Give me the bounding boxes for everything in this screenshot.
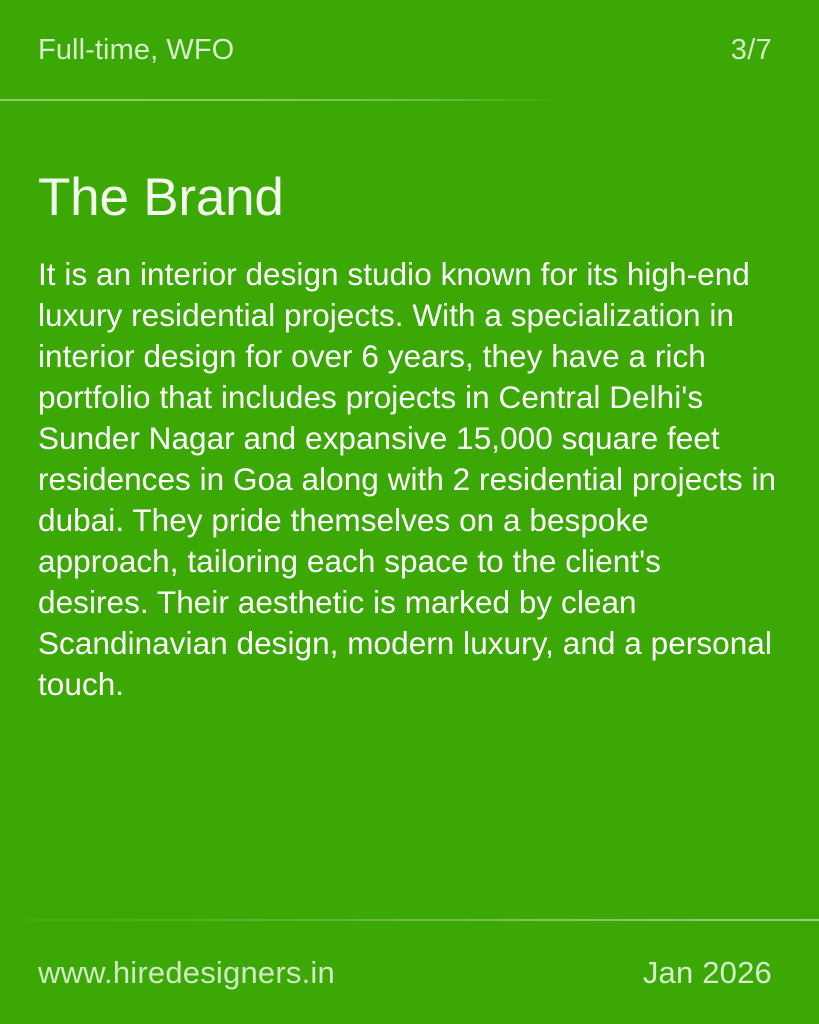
page-title: The Brand xyxy=(38,170,779,226)
slide-card: Full-time, WFO 3/7 The Brand It is an in… xyxy=(0,0,819,1024)
slide-header: Full-time, WFO 3/7 xyxy=(0,0,819,100)
brand-description: It is an interior design studio known fo… xyxy=(38,254,779,705)
slide-footer: www.hiredesigners.in Jan 2026 xyxy=(0,921,819,1024)
slide-content: The Brand It is an interior design studi… xyxy=(0,100,819,920)
job-type-label: Full-time, WFO xyxy=(38,36,234,65)
date-label: Jan 2026 xyxy=(643,957,772,988)
page-indicator: 3/7 xyxy=(731,36,772,65)
website-link[interactable]: www.hiredesigners.in xyxy=(38,957,335,988)
